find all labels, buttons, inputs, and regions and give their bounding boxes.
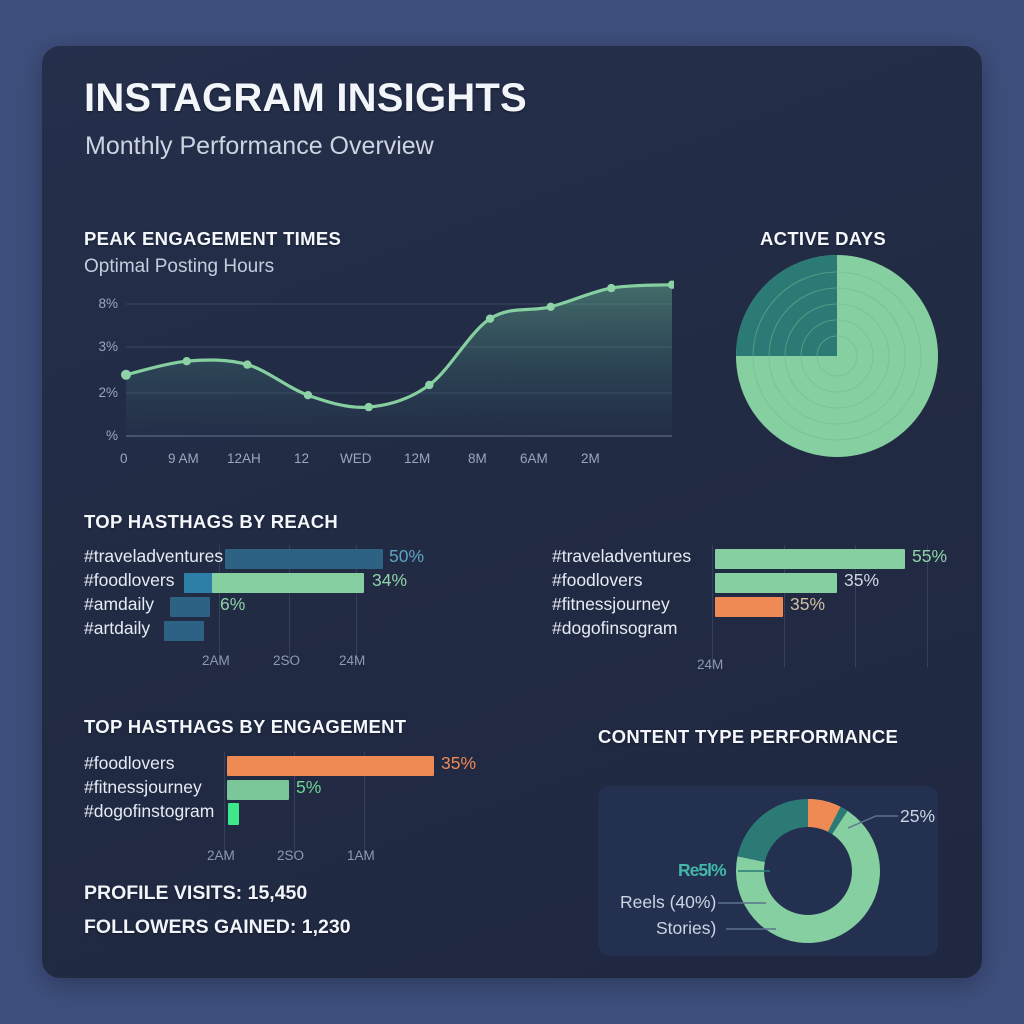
section-title-engagement: TOP HASTHAGS BY ENGAGEMENT xyxy=(84,716,406,738)
reach-row-2[interactable]: #amdaily 6% xyxy=(84,597,464,617)
reach-value-0: 50% xyxy=(389,546,424,567)
x-tick-7: 6AM xyxy=(520,451,548,466)
stat-profile-visits: PROFILE VISITS: 15,450 xyxy=(84,882,307,905)
line-data-point xyxy=(486,315,494,323)
reach2-label-3: #dogofinsogram xyxy=(552,618,678,639)
line-data-point xyxy=(547,303,555,311)
engagement-row-2[interactable]: #dogofinstogram xyxy=(84,804,484,824)
dashboard-card: INSTAGRAM INSIGHTS Monthly Performance O… xyxy=(42,46,982,978)
line-data-point xyxy=(243,360,251,368)
x-tick-3: 12 xyxy=(294,451,309,466)
reach-bar-1 xyxy=(212,573,364,593)
reach-tick-2: 24M xyxy=(339,653,365,668)
x-tick-8: 2M xyxy=(581,451,600,466)
reach2-row-3[interactable]: #dogofinsogram xyxy=(552,621,952,641)
reach-value-2: 6% xyxy=(220,594,245,615)
line-data-point xyxy=(607,284,615,292)
reach2-row-0[interactable]: #traveladventures 55% xyxy=(552,549,952,569)
engagement-row-1[interactable]: #fitnessjourney 5% xyxy=(84,780,484,800)
line-chart-svg xyxy=(84,236,674,476)
engagement-bar-0 xyxy=(227,756,434,776)
engagement-label-2: #dogofinstogram xyxy=(84,801,214,822)
reach2-bar-2 xyxy=(715,597,783,617)
reach-label-1: #foodlovers xyxy=(84,570,174,591)
engagement-bar-chart: #foodlovers 35% #fitnessjourney 5% #dogo… xyxy=(84,748,484,898)
donut-label-25: 25% xyxy=(900,806,935,827)
reach-bar-0 xyxy=(225,549,383,569)
reach2-value-0: 55% xyxy=(912,546,947,567)
reach-bar-chart: #traveladventures 50% #foodlovers 34% #a… xyxy=(84,541,464,701)
reach-row-3[interactable]: #artdaily xyxy=(84,621,464,641)
engagement-value-1: 5% xyxy=(296,777,321,798)
x-tick-5: 12M xyxy=(404,451,430,466)
content-type-donut-svg xyxy=(598,786,938,956)
engagement-value-0: 35% xyxy=(441,753,476,774)
reach-label-3: #artdaily xyxy=(84,618,150,639)
reach-bar-2 xyxy=(170,597,210,617)
donut-label-garbled: Re5l% xyxy=(678,860,726,881)
content-type-panel: 25% Re5l% Reels (40%) Stories) xyxy=(598,786,938,956)
reach2-bar-0 xyxy=(715,549,905,569)
engagement-bar-1 xyxy=(227,780,289,800)
reach2-label-1: #foodlovers xyxy=(552,570,642,591)
section-title-reach: TOP HASTHAGS BY REACH xyxy=(84,511,338,533)
reach2-value-1: 35% xyxy=(844,570,879,591)
peak-engagement-line-chart: 8% 3% 2% % 0 9 A xyxy=(84,236,674,476)
donut-label-stories: Stories) xyxy=(656,918,716,939)
page-title: INSTAGRAM INSIGHTS xyxy=(84,76,527,121)
reach-tick-0: 2AM xyxy=(202,653,230,668)
reach2-label-2: #fitnessjourney xyxy=(552,594,670,615)
x-tick-2: 12AH xyxy=(227,451,261,466)
reach-value-1: 34% xyxy=(372,570,407,591)
page-subtitle: Monthly Performance Overview xyxy=(85,132,434,161)
x-tick-4: WED xyxy=(340,451,372,466)
reach-tick-1: 2SO xyxy=(273,653,300,668)
reach-label-0: #traveladventures xyxy=(84,546,223,567)
reach-row-1[interactable]: #foodlovers 34% xyxy=(84,573,464,593)
engagement-tick-0: 2AM xyxy=(207,848,235,863)
x-tick-1: 9 AM xyxy=(168,451,199,466)
engagement-tick-2: 1AM xyxy=(347,848,375,863)
reach-secondary-bar-chart: #traveladventures 55% #foodlovers 35% #f… xyxy=(552,541,952,701)
engagement-tick-1: 2SO xyxy=(277,848,304,863)
x-tick-0: 0 xyxy=(120,451,128,466)
reach2-bar-1 xyxy=(715,573,837,593)
engagement-bar-2 xyxy=(228,803,239,825)
reach2-row-2[interactable]: #fitnessjourney 35% xyxy=(552,597,952,617)
reach-bar-3 xyxy=(164,621,204,641)
line-data-point xyxy=(425,381,433,389)
active-days-pie-svg xyxy=(717,236,957,476)
line-data-point xyxy=(121,370,131,380)
reach2-label-0: #traveladventures xyxy=(552,546,691,567)
donut-label-reels: Reels (40%) xyxy=(620,892,716,913)
reach2-tick-0: 24M xyxy=(697,657,723,672)
reach2-value-2: 35% xyxy=(790,594,825,615)
reach-label-2: #amdaily xyxy=(84,594,154,615)
line-data-point xyxy=(183,357,191,365)
engagement-row-0[interactable]: #foodlovers 35% xyxy=(84,756,484,776)
active-days-pie-chart xyxy=(717,236,957,476)
dashboard-root: INSTAGRAM INSIGHTS Monthly Performance O… xyxy=(0,0,1024,1024)
engagement-label-0: #foodlovers xyxy=(84,753,174,774)
reach-row-0[interactable]: #traveladventures 50% xyxy=(84,549,464,569)
reach2-row-1[interactable]: #foodlovers 35% xyxy=(552,573,952,593)
engagement-label-1: #fitnessjourney xyxy=(84,777,202,798)
line-data-point xyxy=(365,403,373,411)
line-data-point xyxy=(304,391,312,399)
stat-followers-gained: FOLLOWERS GAINED: 1,230 xyxy=(84,916,351,939)
section-title-content-type: CONTENT TYPE PERFORMANCE xyxy=(598,726,898,748)
x-tick-6: 8M xyxy=(468,451,487,466)
